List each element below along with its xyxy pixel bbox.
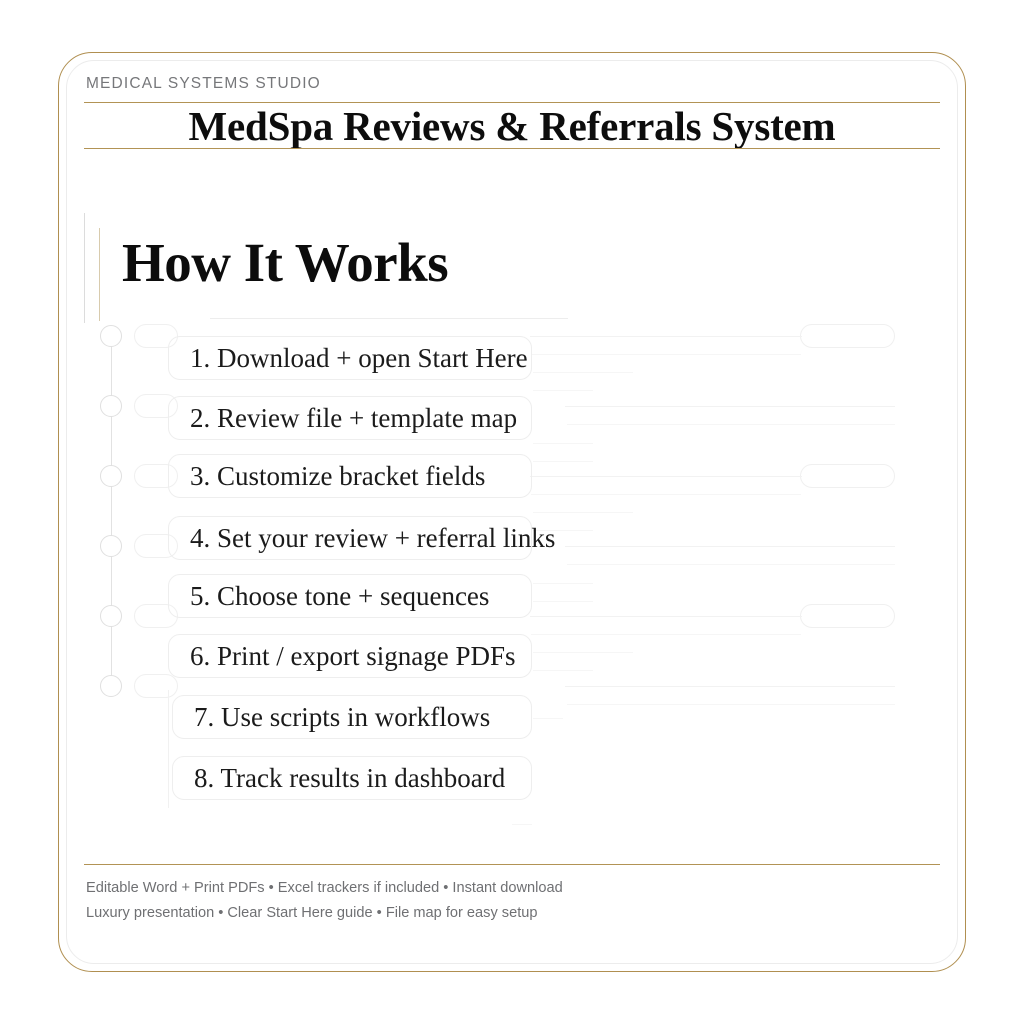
steps-list: 1. Download + open Start Here 2. Review … [0,0,1024,1024]
step-item[interactable]: 6. Print / export signage PDFs [168,634,532,678]
step-label: 3. Customize bracket fields [190,454,485,498]
footer-line-1: Editable Word + Print PDFs • Excel track… [86,880,563,896]
step-item[interactable]: 1. Download + open Start Here [168,336,532,380]
step-item[interactable]: 4. Set your review + referral links [168,516,532,560]
step-item[interactable]: 3. Customize bracket fields [168,454,532,498]
step-item[interactable]: 2. Review file + template map [168,396,532,440]
step-item[interactable]: 7. Use scripts in workflows [172,695,532,739]
footer-line-2: Luxury presentation • Clear Start Here g… [86,905,538,921]
step-label: 4. Set your review + referral links [190,516,555,560]
step-item[interactable]: 5. Choose tone + sequences [168,574,532,618]
slide-canvas: MEDICAL SYSTEMS STUDIO MedSpa Reviews & … [0,0,1024,1024]
step-label: 7. Use scripts in workflows [194,695,490,739]
step-label: 1. Download + open Start Here [190,336,528,380]
step-label: 2. Review file + template map [190,396,517,440]
step-label: 6. Print / export signage PDFs [190,634,516,678]
step-item[interactable]: 8. Track results in dashboard [172,756,532,800]
step-label: 8. Track results in dashboard [194,756,505,800]
footer-rule [84,864,940,865]
step-label: 5. Choose tone + sequences [190,574,489,618]
